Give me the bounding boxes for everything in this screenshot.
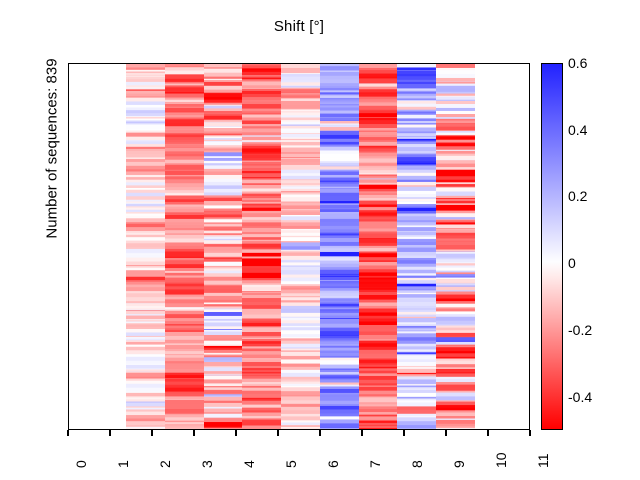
- y-axis-label: Number of sequences: 839: [44, 0, 61, 309]
- heatmap-column-1: [126, 64, 165, 429]
- colorbar-tick-labels: 0.60.40.20-0.2-0.4: [568, 63, 638, 430]
- colorbar-gradient: [542, 64, 562, 429]
- heatmap-plot-area: [68, 63, 530, 430]
- chart-title: Shift [°]: [0, 18, 598, 35]
- heatmap-cells: [126, 64, 475, 429]
- heatmap-column-2: [165, 64, 204, 429]
- x-tick-2: [151, 430, 152, 436]
- x-tick-label-4: 4: [241, 460, 257, 468]
- colorbar-tick-label--0.2: -0.2: [568, 322, 592, 338]
- figure-canvas: Shift [°] Number of sequences: 839 01234…: [0, 0, 640, 480]
- x-tick-9: [445, 430, 446, 436]
- colorbar-tick-label-0: 0: [568, 255, 576, 271]
- heatmap-column-3: [204, 64, 243, 429]
- x-axis-ticks: [68, 430, 530, 438]
- x-tick-1: [109, 430, 110, 436]
- colorbar-tick-label-0.6: 0.6: [568, 55, 587, 71]
- x-axis-tick-labels: 01234567891011: [68, 438, 530, 480]
- x-tick-label-9: 9: [451, 460, 467, 468]
- heatmap-column-5: [281, 64, 320, 429]
- heatmap-column-6: [320, 64, 359, 429]
- x-tick-label-5: 5: [283, 460, 299, 468]
- colorbar-tick-label-0.4: 0.4: [568, 122, 587, 138]
- heatmap-column-8: [397, 64, 436, 429]
- x-tick-label-10: 10: [493, 452, 509, 468]
- colorbar: [541, 63, 563, 430]
- colorbar-tick-label--0.4: -0.4: [568, 389, 592, 405]
- x-tick-6: [319, 430, 320, 436]
- x-tick-label-1: 1: [115, 460, 131, 468]
- x-tick-label-7: 7: [367, 460, 383, 468]
- x-tick-label-3: 3: [199, 460, 215, 468]
- heatmap-column-4: [242, 64, 281, 429]
- x-tick-label-11: 11: [535, 453, 551, 468]
- heatmap-column-7: [359, 64, 398, 429]
- x-tick-7: [361, 430, 362, 436]
- heatmap-column-9: [436, 64, 475, 429]
- x-tick-3: [193, 430, 194, 436]
- x-tick-label-6: 6: [325, 460, 341, 468]
- x-tick-4: [235, 430, 236, 436]
- x-tick-8: [403, 430, 404, 436]
- x-tick-0: [67, 430, 68, 436]
- x-tick-label-0: 0: [73, 460, 89, 468]
- x-tick-10: [487, 430, 488, 436]
- x-tick-5: [277, 430, 278, 436]
- x-tick-label-8: 8: [409, 460, 425, 468]
- x-tick-label-2: 2: [157, 460, 173, 468]
- colorbar-tick-label-0.2: 0.2: [568, 188, 587, 204]
- x-tick-11: [529, 430, 530, 436]
